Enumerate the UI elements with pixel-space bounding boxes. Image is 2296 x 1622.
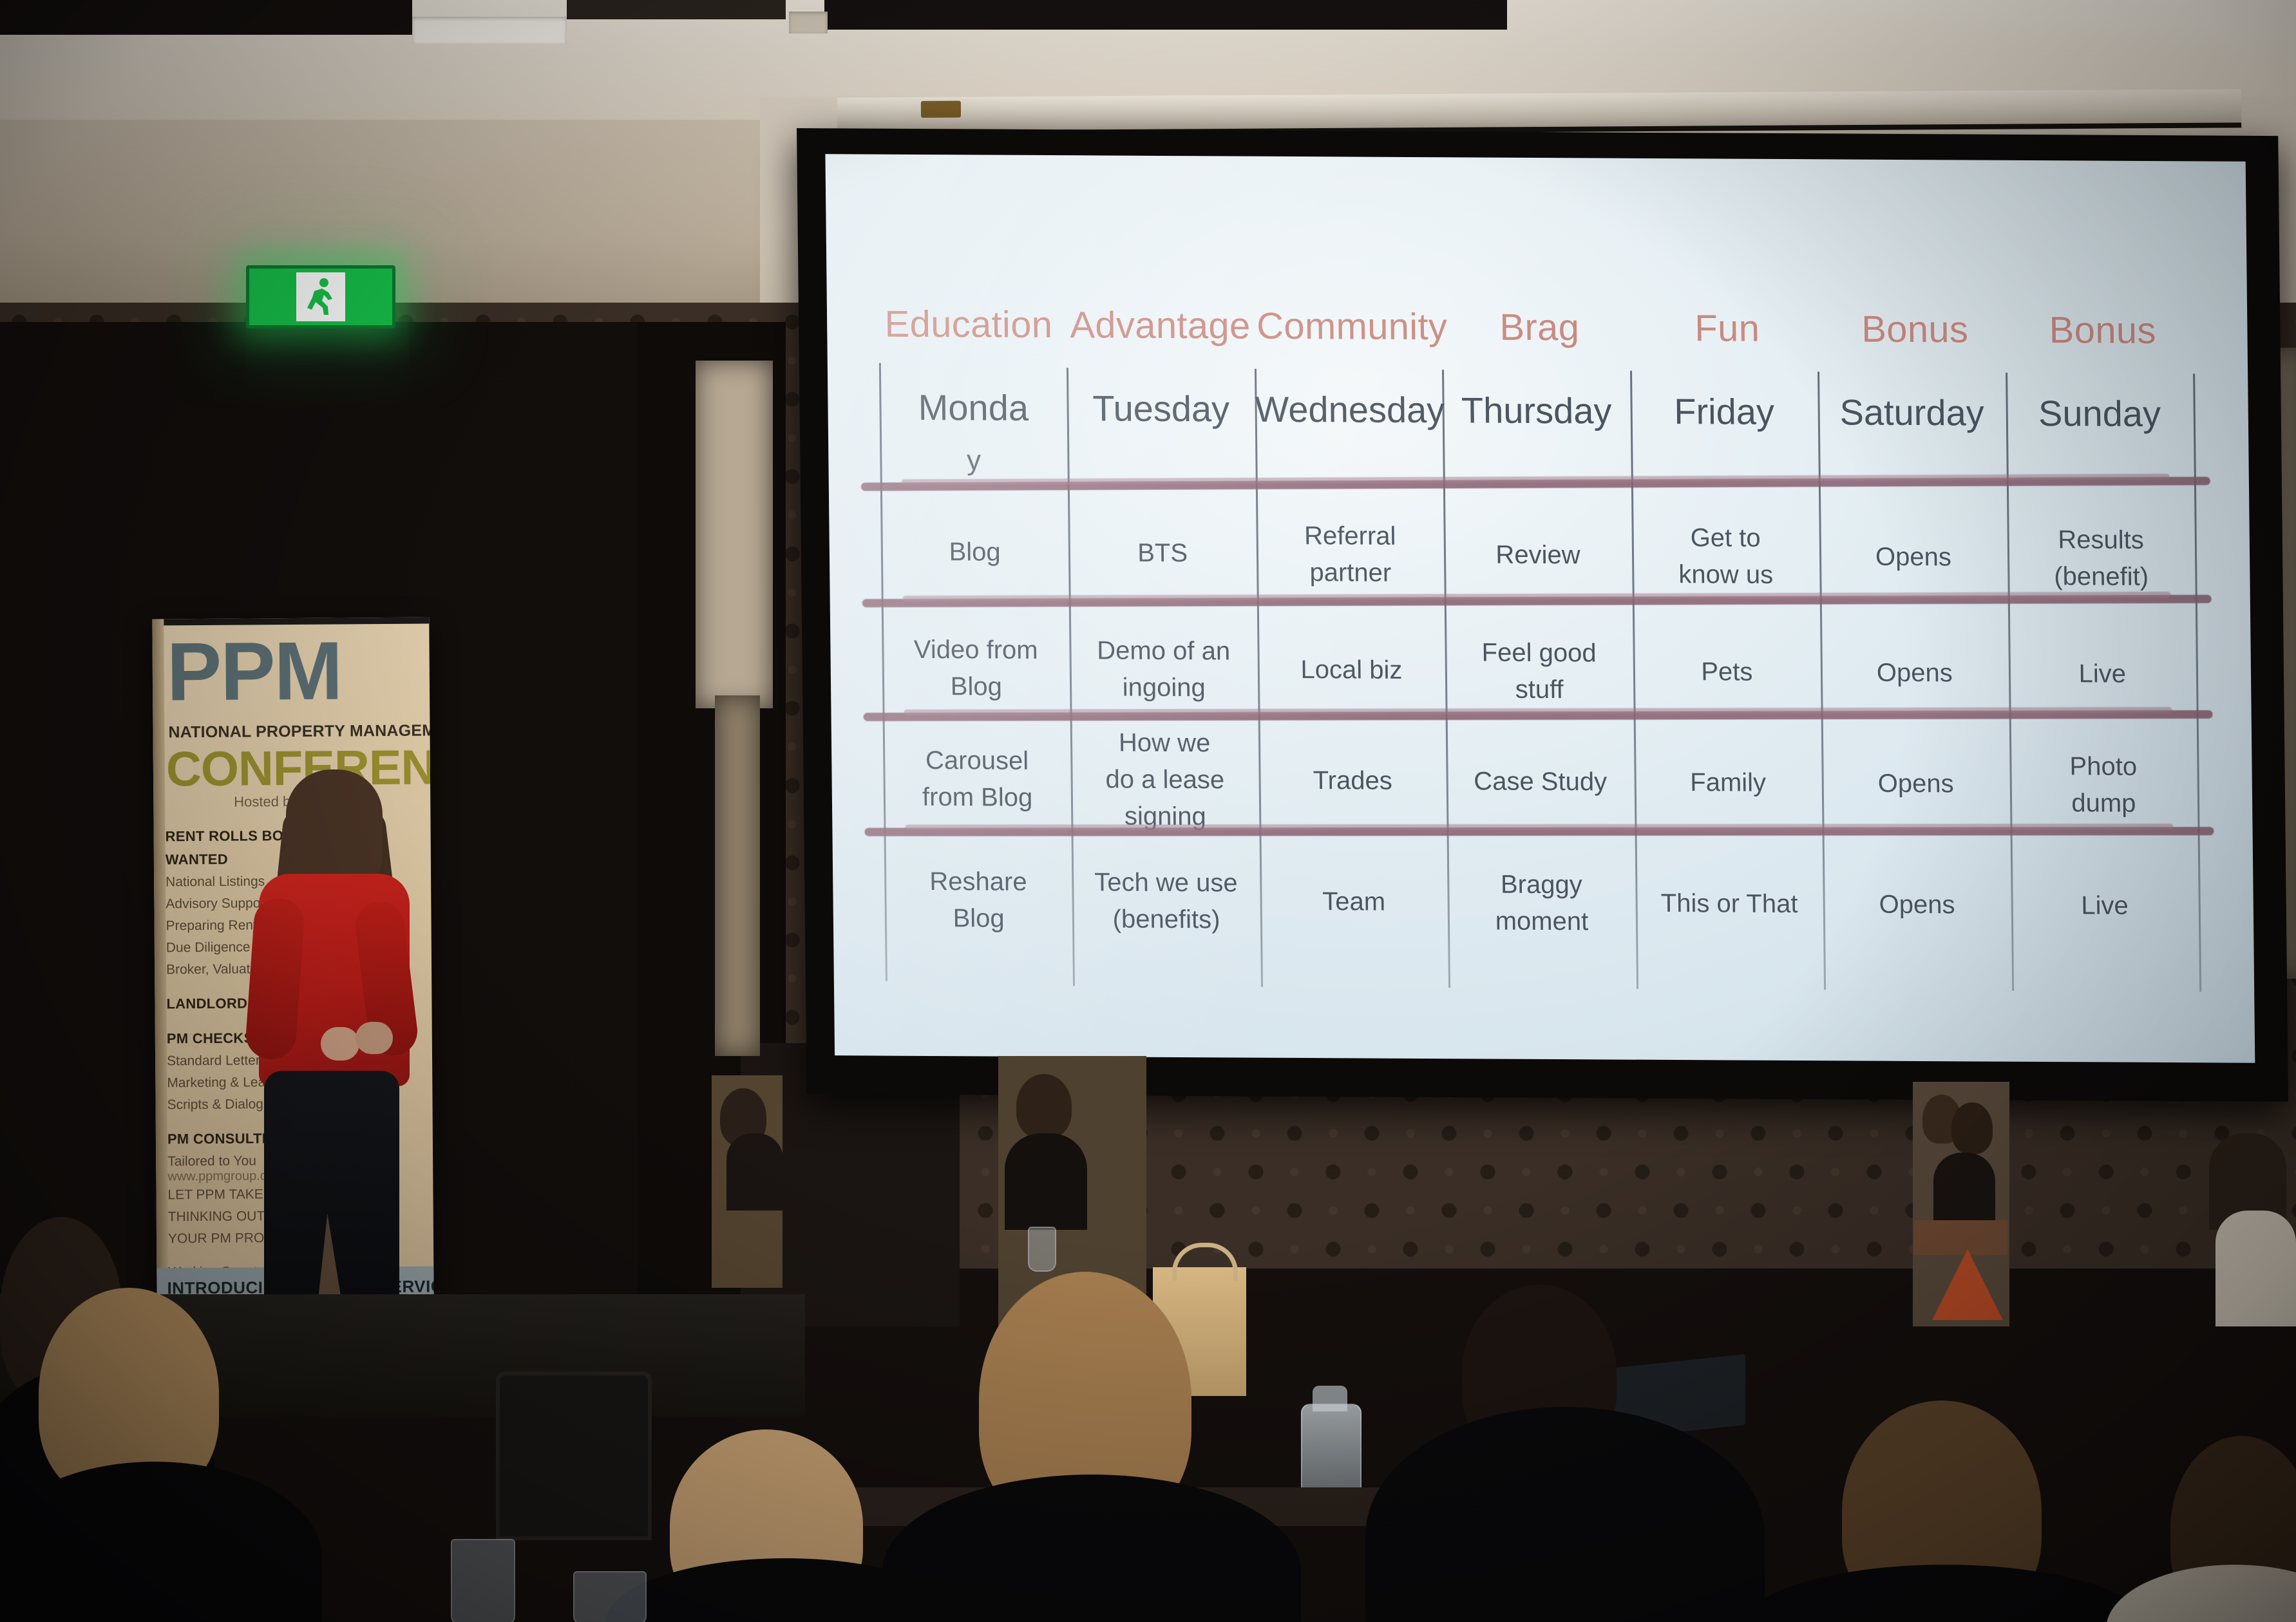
ceiling-slot-right [824,0,1507,30]
background-person [1016,1074,1072,1138]
slide-category-2: Advantage [1066,303,1254,348]
slide-cell-r4-c3: Team [1260,845,1448,959]
slide-category-7: Bonus [2009,308,2197,353]
audience-shoulders [2106,1565,2296,1622]
slide-day-3: Wednesday [1255,388,1443,431]
stage-chair [496,1372,652,1540]
slide-day-5: Friday [1630,390,1818,433]
audience-shoulders [1739,1565,2151,1622]
slide-cell-r4-c1: Reshare Blog [884,844,1073,957]
ppm-logo: PPM [166,633,418,710]
slide-cell-r4-c7: Live [2010,849,2199,963]
slide-row-rule-4 [864,827,2214,836]
slide-category-5: Fun [1633,306,1821,351]
drinking-glass [1028,1227,1056,1272]
ceiling-slot-mid [567,0,786,19]
background-person-body [726,1133,783,1211]
background-table [1914,1220,2007,1255]
exit-sign [246,265,395,328]
slide-content: EducationAdvantageCommunityBragFunBonusB… [825,154,2255,1062]
screen-frame: EducationAdvantageCommunityBragFunBonusB… [797,128,2288,1102]
wall-strip [715,695,760,1056]
exit-sign-panel [296,272,345,321]
slide-category-6: Bonus [1821,307,2009,352]
slide-cell-r3-c2: How we do a lease signing [1070,723,1259,837]
background-person-body [1005,1133,1087,1230]
slide-cell-r3-c4: Case Study [1446,725,1635,839]
slide-category-3: Community [1257,305,1445,349]
ceiling-panel [412,17,567,44]
background-person-body [1933,1153,1995,1230]
presenter-hand [356,1022,393,1054]
drinking-glass [451,1539,515,1622]
slide-cell-r3-c5: Family [1634,726,1823,840]
slide-cell-r4-c2: Tech we use (benefits) [1072,844,1260,958]
projection-screen-assembly: EducationAdvantageCommunityBragFunBonusB… [802,132,2296,1111]
slide-day-7: Sunday [2006,392,2194,435]
background-person-body [2215,1211,2296,1326]
ceiling-panel [789,12,828,33]
slide-day-2: Tuesday [1067,387,1255,430]
running-person-exit-icon [303,278,339,316]
slide-category-4: Brag [1445,305,1633,350]
slide-cell-r2-c1: Video from Blog [882,612,1070,726]
slide-cell-r4-c6: Opens [1823,848,2011,962]
slide-cell-r1-c2: BTS [1068,496,1257,610]
slide-day-grid: MondaTuesdayWednesdayThursdayFridaySatur… [879,367,2199,992]
ceiling-slot-left [0,0,412,35]
slide-cell-r4-c5: This or That [1635,847,1823,961]
slide-cell-r3-c1: Carousel from Blog [883,722,1072,836]
slide-cell-r1-c1: Blog [880,496,1069,610]
slide-category-row: EducationAdvantageCommunityBragFunBonusB… [878,303,2193,368]
housing-logo [921,100,961,117]
audience-shoulders [0,1462,322,1622]
audience-shoulders [1365,1407,1765,1622]
background-person [1951,1102,1993,1154]
banner-top-bar [152,618,429,626]
ppm-subtitle: NATIONAL PROPERTY MANAGEMENT [168,722,419,742]
slide-day-6: Saturday [1818,391,2006,434]
slide-day-4: Thursday [1443,389,1631,432]
wall-strip [696,361,773,708]
slide-day-1: Monda [879,386,1067,429]
drinking-glass [573,1571,647,1622]
slide-cell-r3-c3: Trades [1258,724,1447,838]
slide-day-1-wrap: y [880,444,1068,478]
conference-room-photo: EducationAdvantageCommunityBragFunBonusB… [0,0,2296,1622]
presenter-hand [321,1027,359,1061]
slide-category-1: Education [875,303,1063,347]
slide-cell-r4-c4: Braggy moment [1447,846,1636,960]
projection-surface: EducationAdvantageCommunityBragFunBonusB… [825,154,2255,1062]
